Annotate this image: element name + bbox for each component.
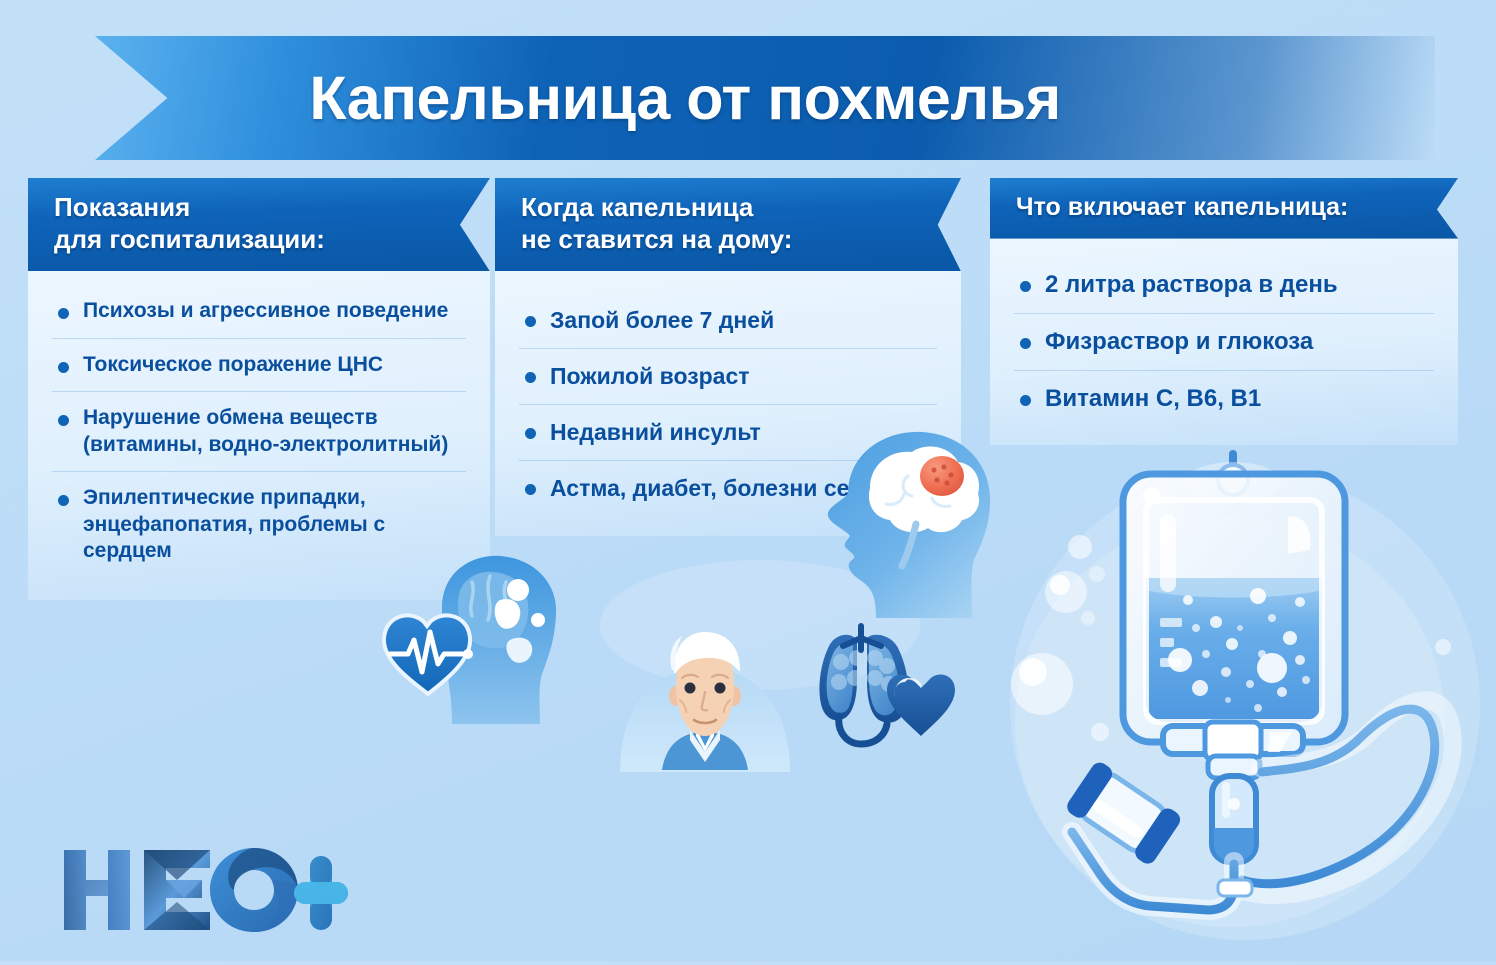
head-brain-heart-pulse-icon: [372, 548, 592, 733]
list-item-label: Нарушение обмена веществ (витамины, водн…: [83, 405, 464, 458]
bullet-dot-icon: [1020, 395, 1031, 406]
list-item: 2 литра раствора в день: [1014, 257, 1434, 313]
list-item: Психозы и агрессивное поведение: [52, 285, 466, 337]
panel-header-indications: Показания для госпитализации:: [28, 178, 490, 271]
bullet-dot-icon: [1020, 338, 1031, 349]
bullet-dot-icon: [58, 415, 69, 426]
bullet-dot-icon: [525, 484, 536, 495]
lungs-heart-icon: [795, 620, 965, 765]
elderly-man-icon: [610, 612, 800, 787]
list-item-label: Пожилой возраст: [550, 362, 750, 391]
list-item: Пожилой возраст: [519, 348, 937, 404]
bullet-dot-icon: [58, 308, 69, 319]
panel-header-contraindications: Когда капельница не ставится на дому:: [495, 178, 961, 271]
bullet-dot-icon: [525, 372, 536, 383]
head-brain-stroke-icon: [790, 420, 1020, 625]
panel-header-line: Что включает капельница:: [1016, 192, 1404, 223]
bullet-dot-icon: [525, 428, 536, 439]
list-item-label: Витамин С, В6, В1: [1045, 384, 1261, 414]
bullet-dot-icon: [58, 495, 69, 506]
panel-body-contents: 2 литра раствора в день Физраствор и глю…: [990, 239, 1458, 446]
panel-header-line: не ставится на дому:: [521, 224, 901, 256]
panel-header-line: Показания: [54, 192, 430, 224]
list-item: Запой более 7 дней: [519, 293, 937, 348]
list-item: Физраствор и глюкоза: [1014, 313, 1434, 370]
list-item-label: Физраствор и глюкоза: [1045, 327, 1313, 357]
list-item-label: 2 литра раствора в день: [1045, 270, 1338, 300]
list-item: Нарушение обмена веществ (витамины, водн…: [52, 391, 466, 471]
list-item-label: Запой более 7 дней: [550, 306, 774, 335]
title-banner: Капельница от похмелья: [95, 36, 1435, 160]
iv-drip-bag-icon: [1000, 432, 1490, 965]
list-item: Токсическое поражение ЦНС: [52, 338, 466, 391]
bullet-dot-icon: [58, 362, 69, 373]
panel-contents: Что включает капельница: 2 литра раствор…: [990, 178, 1458, 445]
list-item-label: Токсическое поражение ЦНС: [83, 352, 383, 378]
bullet-dot-icon: [1020, 281, 1031, 292]
panel-header-line: Когда капельница: [521, 192, 901, 224]
panel-indications: Показания для госпитализации: Психозы и …: [28, 178, 490, 600]
logo-text: НЕО+: [58, 941, 61, 943]
page-title: Капельница от похмелья: [309, 63, 1220, 133]
list-item-label: Психозы и агрессивное поведение: [83, 298, 448, 324]
list-item: Витамин С, В6, В1: [1014, 370, 1434, 427]
panel-header-line: для госпитализации:: [54, 224, 430, 256]
bullet-dot-icon: [525, 316, 536, 327]
brand-logo: НЕО+: [58, 838, 348, 948]
list-item-label: Недавний инсульт: [550, 418, 761, 447]
panel-header-contents: Что включает капельница:: [990, 178, 1458, 239]
